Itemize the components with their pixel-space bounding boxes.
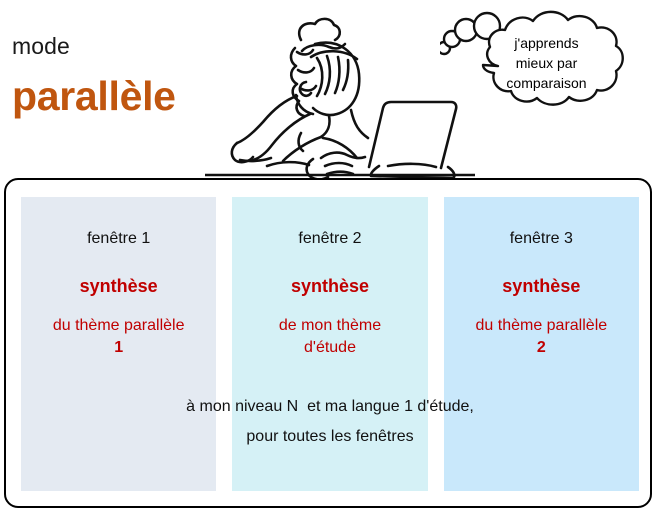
window-description-emphasis-1: 1 — [114, 339, 123, 356]
thought-bubble-line-1: j'apprends — [465, 33, 628, 53]
window-description-main-1: du thème parallèle — [53, 317, 185, 334]
window-description-3: du thème parallèle 2 — [444, 315, 639, 359]
window-column-2[interactable]: fenêtre 2 synthèse de mon thème d'étude — [232, 197, 427, 491]
window-description-main-3: du thème parallèle — [476, 317, 608, 334]
mode-kicker-label: mode — [12, 33, 70, 59]
synthese-label-2: synthèse — [232, 275, 427, 297]
window-description-1: du thème parallèle 1 — [21, 315, 216, 359]
synthese-label-1: synthèse — [21, 275, 216, 297]
windows-columns: fenêtre 1 synthèse du thème parallèle 1 … — [21, 197, 639, 491]
window-description-main-2: de mon thème — [279, 317, 381, 334]
window-description-emphasis-2: d'étude — [304, 339, 356, 356]
window-label-1: fenêtre 1 — [21, 229, 216, 249]
page-title: parallèle — [12, 73, 176, 119]
window-label-2: fenêtre 2 — [232, 229, 427, 249]
window-description-2: de mon thème d'étude — [232, 315, 427, 359]
thought-bubble-line-3: comparaison — [465, 73, 628, 93]
window-column-3[interactable]: fenêtre 3 synthèse du thème parallèle 2 — [444, 197, 639, 491]
student-at-laptop-illustration — [205, 0, 475, 178]
header: mode parallèle — [0, 0, 657, 178]
thought-bubble-line-2: mieux par — [465, 53, 628, 73]
thought-bubble-text: j'apprends mieux par comparaison — [465, 33, 628, 93]
window-label-3: fenêtre 3 — [444, 229, 639, 249]
window-column-1[interactable]: fenêtre 1 synthèse du thème parallèle 1 — [21, 197, 216, 491]
window-description-emphasis-3: 2 — [537, 339, 546, 356]
windows-panel-container: fenêtre 1 synthèse du thème parallèle 1 … — [4, 178, 652, 508]
synthese-label-3: synthèse — [444, 275, 639, 297]
